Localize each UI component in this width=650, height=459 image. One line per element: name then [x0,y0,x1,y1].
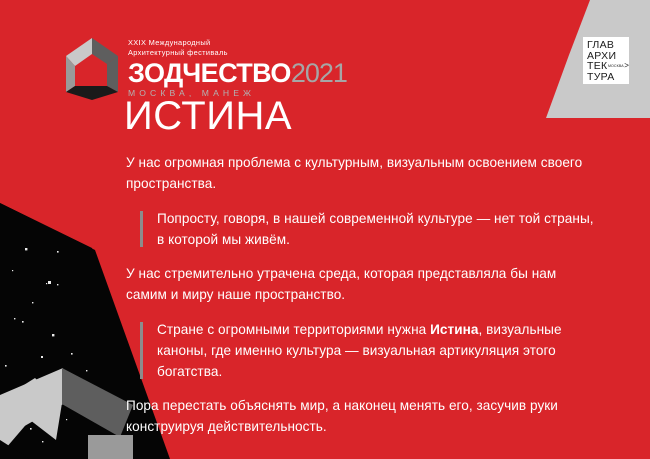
paragraph-change-world: Пора перестать объяснять мир, а наконец … [126,395,596,437]
logo-line-3-mini: МОСКВА [608,64,624,68]
chevron-right-icon: > [624,62,629,70]
body-copy: У нас огромная проблема с культурным, ви… [126,152,596,437]
paragraph-lost-environment: У нас стремительно утрачена среда, котор… [126,263,596,305]
festival-superline-2: Архитектурный фестиваль [128,48,458,58]
poster-canvas: ГЛАВ АРХИ ТЕК МОСКВА > ТУРА XXIX Междуна… [0,0,650,459]
logo-line-4: ТУРА [587,72,629,83]
festival-title-main: ЗОДЧЕСТВО [128,58,291,88]
quote-istina-bold: Истина [430,322,478,337]
quote-no-country: Попросту, говоря, в нашей современной ку… [140,208,596,250]
theme-word: ИСТИНА [124,96,292,136]
logo-line-1: ГЛАВ [587,40,629,51]
house-icon [59,36,125,102]
glavarhitektura-logo[interactable]: ГЛАВ АРХИ ТЕК МОСКВА > ТУРА [583,37,629,84]
quote-istina: Стране с огромными территориями нужна Ис… [140,319,596,382]
festival-title: ЗОДЧЕСТВО2021 [128,60,458,87]
festival-title-year: 2021 [291,58,347,88]
paragraph-problem: У нас огромная проблема с культурным, ви… [126,152,596,194]
festival-superline-1: XXIX Международный [128,38,458,48]
quote-istina-before: Стране с огромными территориями нужна [157,322,430,337]
festival-header: XXIX Международный Архитектурный фестива… [128,38,458,99]
